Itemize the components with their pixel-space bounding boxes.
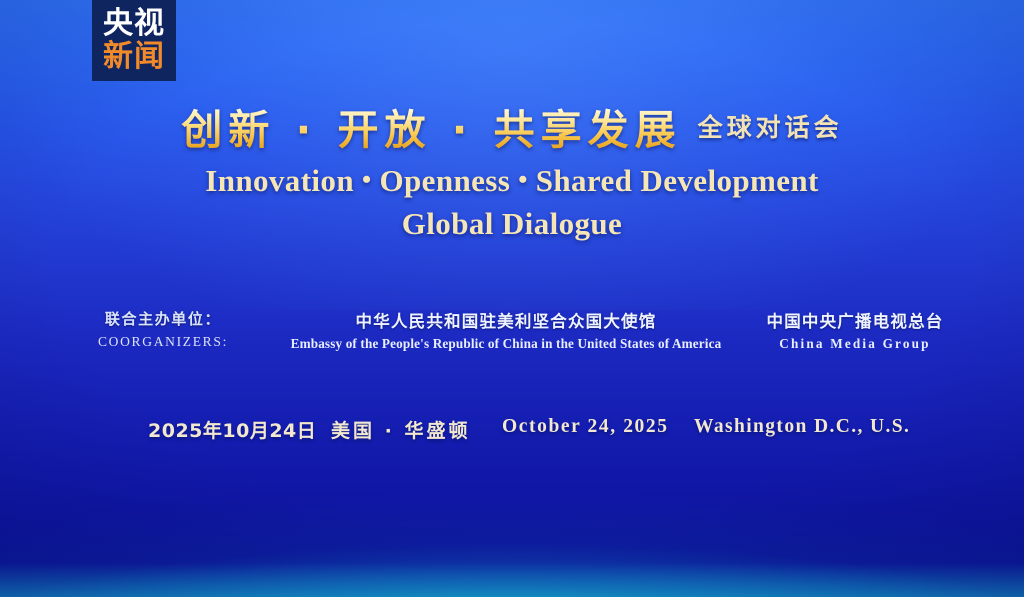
chinese-title: 创新 · 开放 · 共享发展全球对话会 [0, 96, 1024, 156]
english-title-word-openness: Openness [380, 163, 511, 198]
coorganizer-china-media-group: 中国中央广播电视总台 China Media Group [742, 308, 968, 352]
coorganizers-row: 联合主办单位： COORGANIZERS: 中华人民共和国驻美利坚合众国大使馆 … [0, 308, 1024, 358]
coorganizers-label-cn: 联合主办单位： [68, 308, 258, 329]
title-separator-dot-1: • [362, 165, 372, 194]
event-place-cn: 美国 · 华盛顿 [331, 416, 470, 443]
chinese-title-sub: 全球对话会 [698, 113, 843, 142]
coorganizers-label-en: COORGANIZERS: [68, 334, 258, 350]
coorganizer-embassy-en: Embassy of the People's Republic of Chin… [272, 336, 740, 352]
cctv-news-logo: 央视 新闻 [92, 0, 176, 81]
coorganizer-embassy: 中华人民共和国驻美利坚合众国大使馆 Embassy of the People'… [272, 308, 740, 352]
english-title: Innovation•Openness•Shared Development G… [0, 160, 1024, 244]
coorganizer-cmg-en: China Media Group [742, 336, 968, 352]
chinese-title-main: 创新 · 开放 · 共享发展 [181, 106, 681, 154]
english-title-word-innovation: Innovation [205, 163, 354, 198]
english-title-line-2: Global Dialogue [0, 203, 1024, 244]
english-title-line-1: Innovation•Openness•Shared Development [0, 160, 1024, 203]
event-place-en: Washington D.C., U.S. [694, 416, 910, 438]
background-vignette [0, 0, 1024, 597]
title-separator-dot-2: • [518, 165, 528, 194]
background-bottom-glow [0, 493, 1024, 597]
logo-line-1: 央视 [103, 9, 165, 39]
coorganizer-embassy-cn: 中华人民共和国驻美利坚合众国大使馆 [272, 308, 740, 332]
coorganizer-cmg-cn: 中国中央广播电视总台 [742, 308, 968, 332]
coorganizers-label: 联合主办单位： COORGANIZERS: [68, 308, 258, 350]
english-title-word-shared-development: Shared Development [536, 163, 819, 198]
broadcast-graphic-stage: 央视 新闻 创新 · 开放 · 共享发展全球对话会 Innovation•Ope… [0, 0, 1024, 597]
background-bottom-edge-glow [0, 563, 1024, 597]
event-date-en: October 24, 2025 [502, 416, 669, 438]
event-details-row: 2025年10月24日 美国 · 华盛顿 October 24, 2025 Wa… [0, 416, 1024, 448]
logo-line-2: 新闻 [103, 42, 165, 72]
event-date-cn: 2025年10月24日 [148, 416, 316, 443]
